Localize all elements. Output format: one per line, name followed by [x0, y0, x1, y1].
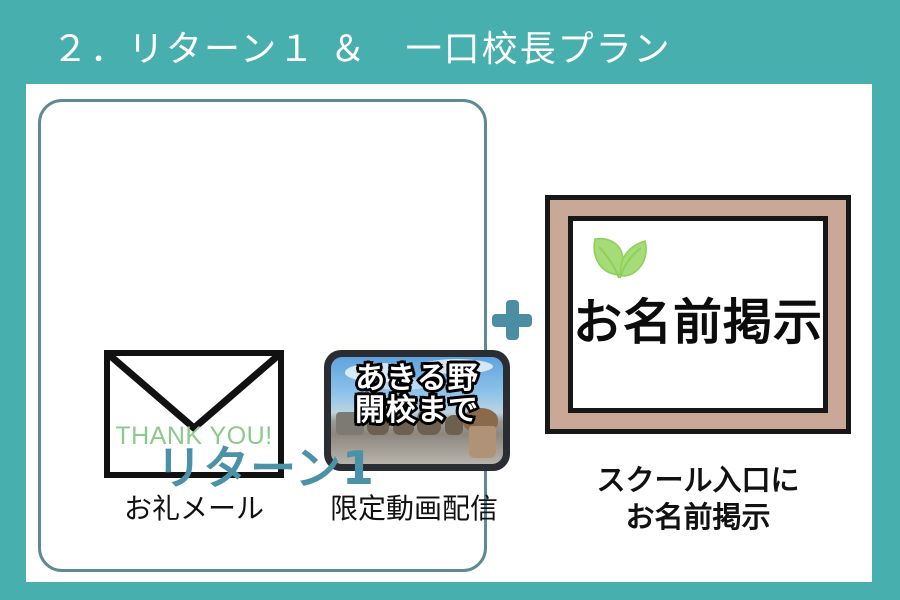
- plus-vertical-bar: [506, 300, 519, 340]
- return-plan-title: リターン1: [41, 432, 490, 498]
- nameplate-frame[interactable]: お名前掲示: [545, 195, 851, 434]
- video-caption-line2: 開校まで: [331, 395, 503, 427]
- nameplate-caption-line1: スクール入口に: [545, 462, 851, 499]
- nameplate-caption-line2: お名前掲示: [545, 499, 851, 536]
- leaf-icon: [589, 231, 651, 283]
- nameplate-text: お名前掲示: [573, 283, 823, 354]
- video-thumbnail-caption: あきる野 開校まで: [331, 363, 503, 427]
- page-title: ２．リターン１ ＆ 一口校長プラン: [52, 20, 672, 72]
- return-plan-card[interactable]: THANK YOU! お礼メール あきる野 開校まで: [38, 99, 487, 572]
- nameplate-frame-inner: お名前掲示: [568, 216, 828, 413]
- nameplate-caption: スクール入口に お名前掲示: [545, 462, 851, 536]
- slide-canvas: ２．リターン１ ＆ 一口校長プラン THANK YOU! お礼メール: [0, 0, 900, 600]
- plus-icon: [492, 300, 532, 340]
- video-caption-line1: あきる野: [331, 363, 503, 395]
